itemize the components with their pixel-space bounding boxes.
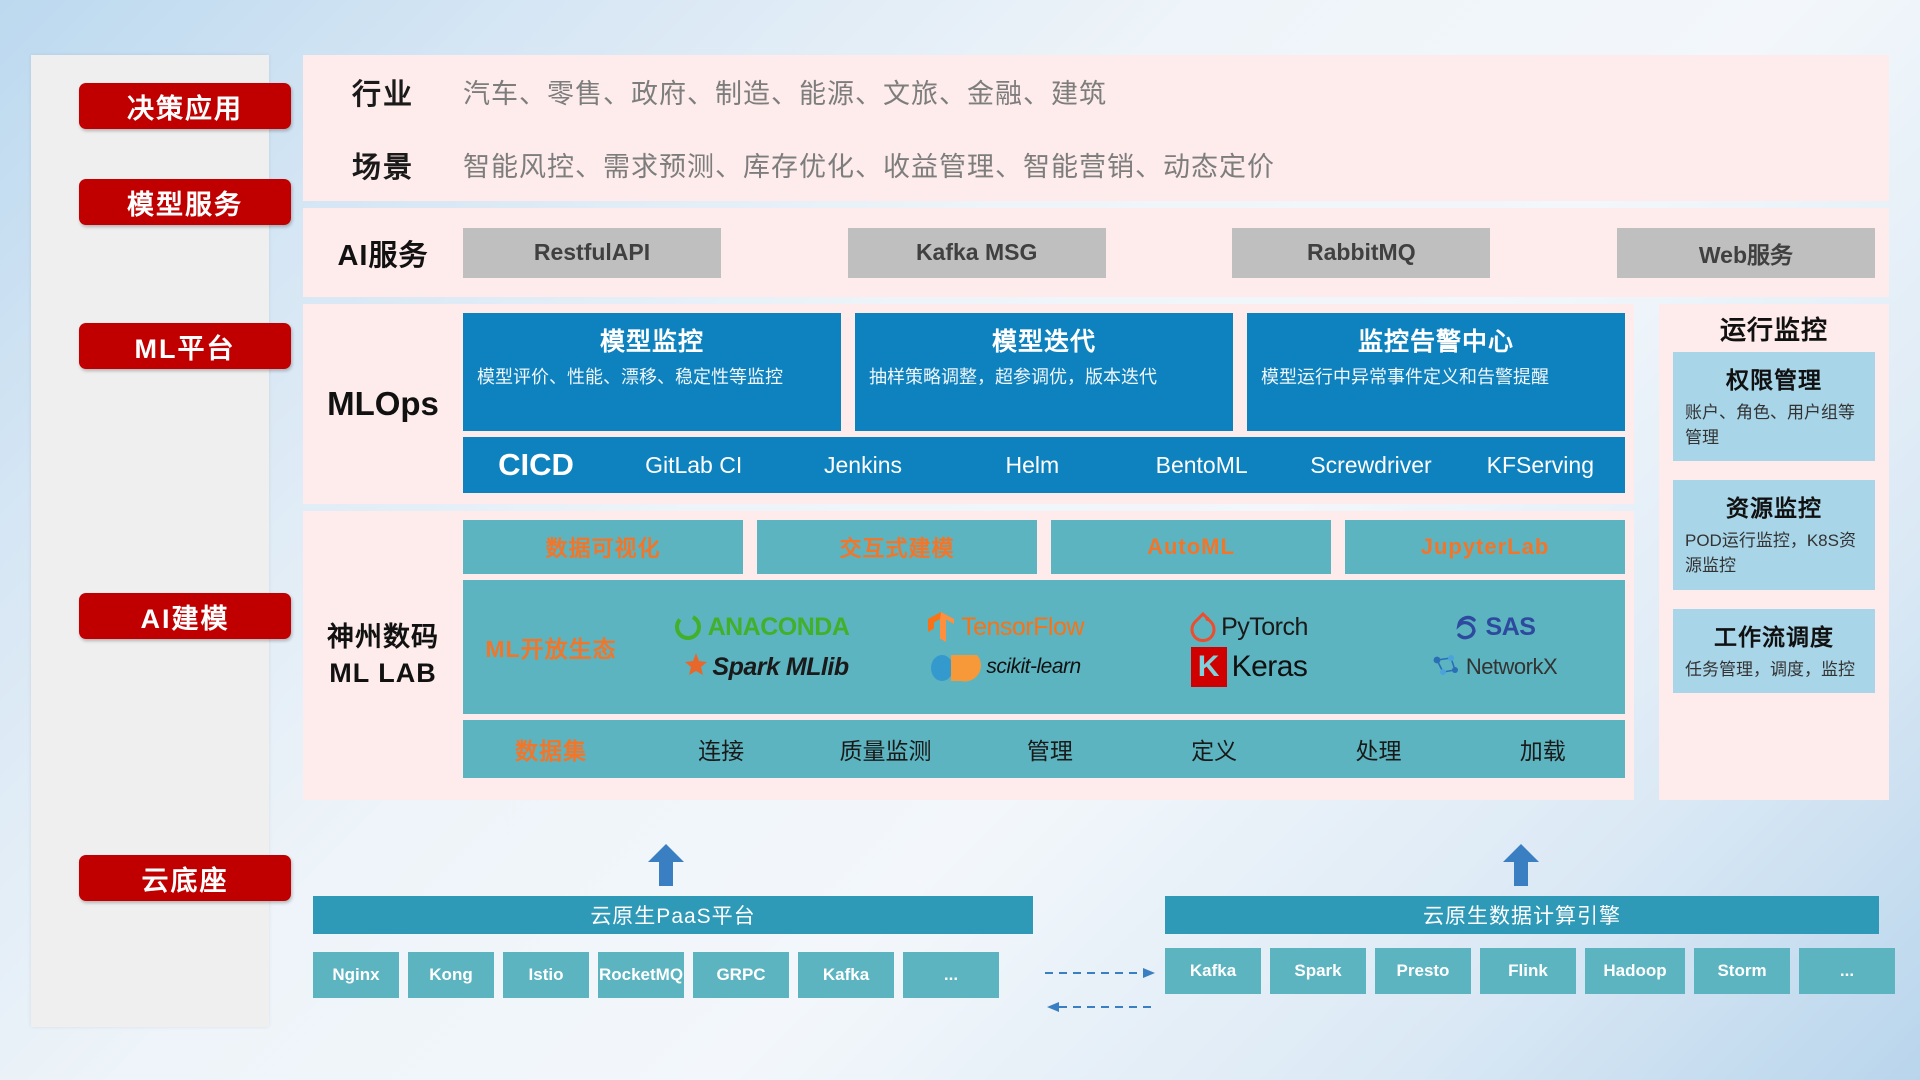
engine-chip-spark[interactable]: Spark <box>1270 948 1366 994</box>
ml-lab-content: 数据可视化 交互式建模 AutoML JupyterLab ML开放生态 ANA… <box>463 511 1634 800</box>
decision-apps-band: 行业 汽车、零售、政府、制造、能源、文旅、金融、建筑 场景 智能风控、需求预测、… <box>303 55 1889 201</box>
rail-chip-ml-platform[interactable]: ML平台 <box>79 323 291 369</box>
ml-lab-label-line1: 神州数码 <box>327 620 439 655</box>
rail-chip-ai-modeling[interactable]: AI建模 <box>79 593 291 639</box>
mlops-content: 模型监控 模型评价、性能、漂移、稳定性等监控 模型迭代 抽样策略调整，超参调优，… <box>463 304 1634 504</box>
engine-chip-hadoop[interactable]: Hadoop <box>1585 948 1685 994</box>
pytorch-logo-text: PyTorch <box>1221 613 1308 642</box>
scenario-row: 场景 智能风控、需求预测、库存优化、收益管理、智能营销、动态定价 <box>303 128 1889 201</box>
monitor-card-desc: 账户、角色、用户组等管理 <box>1685 401 1863 450</box>
mlops-card-desc: 抽样策略调整，超参调优，版本迭代 <box>869 365 1219 390</box>
mlops-card-row: 模型监控 模型评价、性能、漂移、稳定性等监控 模型迭代 抽样策略调整，超参调优，… <box>463 313 1625 431</box>
tool-chip-automl[interactable]: AutoML <box>1051 520 1331 574</box>
paas-chip-kafka[interactable]: Kafka <box>798 952 894 998</box>
networkx-logo-text: NetworkX <box>1466 654 1557 680</box>
ml-lab-band: 神州数码 ML LAB 数据可视化 交互式建模 AutoML JupyterLa… <box>303 511 1634 800</box>
cicd-item-row: GitLab CI Jenkins Helm BentoML Screwdriv… <box>609 451 1625 480</box>
ml-lab-tool-row: 数据可视化 交互式建模 AutoML JupyterLab <box>463 520 1625 574</box>
layer-rail: 决策应用 模型服务 ML平台 AI建模 云底座 <box>31 55 269 1027</box>
tool-chip-jupyterlab[interactable]: JupyterLab <box>1345 520 1625 574</box>
dataset-item-row: 连接 质量监测 管理 定义 处理 加载 <box>639 732 1625 766</box>
ai-service-chip-rabbitmq[interactable]: RabbitMQ <box>1232 228 1490 278</box>
monitor-card-resource[interactable]: 资源监控 POD运行监控，K8S资源监控 <box>1673 480 1875 589</box>
mlops-label: MLOps <box>303 304 463 504</box>
ai-service-band: AI服务 RestfulAPI Kafka MSG RabbitMQ Web服务 <box>303 208 1889 297</box>
scikit-learn-logo-text: scikit-learn <box>986 655 1080 679</box>
ml-ecosystem-logo-grid: ANACONDA TensorFlow <box>639 607 1615 687</box>
sas-logo: SAS <box>1451 612 1536 642</box>
dataset-item-connect[interactable]: 连接 <box>639 732 803 766</box>
dataset-row: 数据集 连接 质量监测 管理 定义 处理 加载 <box>463 720 1625 778</box>
monitor-card-desc: 任务管理，调度，监控 <box>1685 658 1863 683</box>
runtime-monitor-column: 运行监控 权限管理 账户、角色、用户组等管理 资源监控 POD运行监控，K8S资… <box>1659 304 1889 800</box>
monitor-card-desc: POD运行监控，K8S资源监控 <box>1685 529 1863 578</box>
engine-chip-flink[interactable]: Flink <box>1480 948 1576 994</box>
industry-value: 汽车、零售、政府、制造、能源、文旅、金融、建筑 <box>463 72 1107 111</box>
mlops-card-alert-center[interactable]: 监控告警中心 模型运行中异常事件定义和告警提醒 <box>1247 313 1625 431</box>
dataset-item-manage[interactable]: 管理 <box>968 732 1132 766</box>
industry-label: 行业 <box>303 71 463 113</box>
cicd-item-gitlab-ci[interactable]: GitLab CI <box>609 451 778 480</box>
main-stack: 行业 汽车、零售、政府、制造、能源、文旅、金融、建筑 场景 智能风控、需求预测、… <box>303 55 1889 807</box>
scenario-value: 智能风控、需求预测、库存优化、收益管理、智能营销、动态定价 <box>463 145 1275 184</box>
engine-chip-storm[interactable]: Storm <box>1694 948 1790 994</box>
dataset-item-define[interactable]: 定义 <box>1132 732 1296 766</box>
monitor-card-workflow[interactable]: 工作流调度 任务管理，调度，监控 <box>1673 609 1875 694</box>
paas-chip-istio[interactable]: Istio <box>503 952 589 998</box>
cicd-item-screwdriver[interactable]: Screwdriver <box>1286 451 1455 480</box>
paas-chip-more[interactable]: ... <box>903 952 999 998</box>
dataset-item-process[interactable]: 处理 <box>1296 732 1460 766</box>
runtime-monitor-band: 运行监控 权限管理 账户、角色、用户组等管理 资源监控 POD运行监控，K8S资… <box>1659 304 1889 800</box>
paas-chip-rocketmq[interactable]: RocketMQ <box>598 952 684 998</box>
paas-chip-grpc[interactable]: GRPC <box>693 952 789 998</box>
anaconda-logo: ANACONDA <box>673 612 850 642</box>
mlops-band: MLOps 模型监控 模型评价、性能、漂移、稳定性等监控 模型迭代 抽样策略调整… <box>303 304 1634 504</box>
mlops-card-model-iteration[interactable]: 模型迭代 抽样策略调整，超参调优，版本迭代 <box>855 313 1233 431</box>
monitor-card-title: 权限管理 <box>1685 361 1863 395</box>
cicd-item-jenkins[interactable]: Jenkins <box>778 451 947 480</box>
dataset-item-quality[interactable]: 质量监测 <box>803 732 967 766</box>
keras-logo: K Keras <box>1191 647 1308 687</box>
cloud-foundation-zone: 云原生PaaS平台 云原生数据计算引擎 Nginx Kong Istio Roc… <box>303 862 1889 1030</box>
cicd-item-helm[interactable]: Helm <box>948 451 1117 480</box>
monitor-card-title: 工作流调度 <box>1685 618 1863 652</box>
ml-lab-label: 神州数码 ML LAB <box>303 511 463 800</box>
diagram-canvas: 决策应用 模型服务 ML平台 AI建模 云底座 行业 汽车、零售、政府、制造、能… <box>0 0 1920 1080</box>
mlops-card-title: 模型迭代 <box>869 322 1219 358</box>
rail-chip-model-service[interactable]: 模型服务 <box>79 179 291 225</box>
networkx-logo: NetworkX <box>1429 652 1557 682</box>
engine-chip-presto[interactable]: Presto <box>1375 948 1471 994</box>
cicd-bar: CICD GitLab CI Jenkins Helm BentoML Scre… <box>463 437 1625 493</box>
runtime-monitor-title: 运行监控 <box>1659 304 1889 352</box>
rail-chip-label: 决策应用 <box>127 87 243 126</box>
ai-service-chip-restfulapi[interactable]: RestfulAPI <box>463 228 721 278</box>
paas-chip-row: Nginx Kong Istio RocketMQ GRPC Kafka ... <box>313 952 999 998</box>
anaconda-logo-text: ANACONDA <box>708 613 850 642</box>
pytorch-logo: PyTorch <box>1190 612 1308 642</box>
ai-service-label: AI服务 <box>303 232 463 274</box>
engine-chip-row: Kafka Spark Presto Flink Hadoop Storm ..… <box>1165 948 1895 994</box>
paas-chip-kong[interactable]: Kong <box>408 952 494 998</box>
up-arrow-engine-icon <box>1503 844 1539 886</box>
dataset-item-load[interactable]: 加载 <box>1461 732 1625 766</box>
scenario-label: 场景 <box>303 144 463 186</box>
ml-ecosystem-label: ML开放生态 <box>463 630 639 664</box>
mlops-card-model-monitoring[interactable]: 模型监控 模型评价、性能、漂移、稳定性等监控 <box>463 313 841 431</box>
cicd-item-bentoml[interactable]: BentoML <box>1117 451 1286 480</box>
up-arrow-paas-icon <box>648 844 684 886</box>
tool-chip-interactive-modeling[interactable]: 交互式建模 <box>757 520 1037 574</box>
spark-mllib-logo-text: Spark MLlib <box>712 653 848 682</box>
tool-chip-data-visualization[interactable]: 数据可视化 <box>463 520 743 574</box>
link-arrow-left-icon <box>1045 1000 1157 1019</box>
mlops-card-desc: 模型运行中异常事件定义和告警提醒 <box>1261 365 1611 390</box>
engine-chip-more[interactable]: ... <box>1799 948 1895 994</box>
monitor-card-title: 资源监控 <box>1685 489 1863 523</box>
keras-logo-text: Keras <box>1232 650 1308 684</box>
rail-chip-cloud-base[interactable]: 云底座 <box>79 855 291 901</box>
rail-chip-label: AI建模 <box>141 597 230 636</box>
ai-service-chip-row: RestfulAPI Kafka MSG RabbitMQ Web服务 <box>463 228 1889 278</box>
cicd-title: CICD <box>463 447 609 483</box>
spark-mllib-logo: Spark MLlib <box>673 651 848 683</box>
rail-chip-label: ML平台 <box>135 327 236 366</box>
mlops-card-title: 模型监控 <box>477 322 827 358</box>
mlops-card-desc: 模型评价、性能、漂移、稳定性等监控 <box>477 365 827 390</box>
keras-logo-mark: K <box>1191 647 1227 687</box>
scikit-learn-logo: scikit-learn <box>929 650 1080 684</box>
cicd-item-kfserving[interactable]: KFServing <box>1456 451 1625 480</box>
tensorflow-logo-text: TensorFlow <box>961 613 1084 642</box>
ai-service-chip-web-service[interactable]: Web服务 <box>1617 228 1875 278</box>
link-arrow-right-icon <box>1045 966 1157 985</box>
mlops-card-title: 监控告警中心 <box>1261 322 1611 358</box>
paas-bar[interactable]: 云原生PaaS平台 <box>313 896 1033 934</box>
engine-bar[interactable]: 云原生数据计算引擎 <box>1165 896 1879 934</box>
ml-ecosystem-row: ML开放生态 ANACONDA Ten <box>463 580 1625 714</box>
ml-lab-label-line2: ML LAB <box>329 656 437 691</box>
rail-chip-label: 模型服务 <box>127 183 243 222</box>
monitor-card-permission[interactable]: 权限管理 账户、角色、用户组等管理 <box>1673 352 1875 461</box>
rail-chip-decision-apps[interactable]: 决策应用 <box>79 83 291 129</box>
tensorflow-logo: TensorFlow <box>926 610 1084 644</box>
sas-logo-text: SAS <box>1486 613 1536 642</box>
dataset-label: 数据集 <box>463 732 639 766</box>
ai-service-chip-kafka-msg[interactable]: Kafka MSG <box>848 228 1106 278</box>
rail-chip-label: 云底座 <box>142 859 229 898</box>
engine-chip-kafka[interactable]: Kafka <box>1165 948 1261 994</box>
industry-row: 行业 汽车、零售、政府、制造、能源、文旅、金融、建筑 <box>303 55 1889 128</box>
paas-chip-nginx[interactable]: Nginx <box>313 952 399 998</box>
